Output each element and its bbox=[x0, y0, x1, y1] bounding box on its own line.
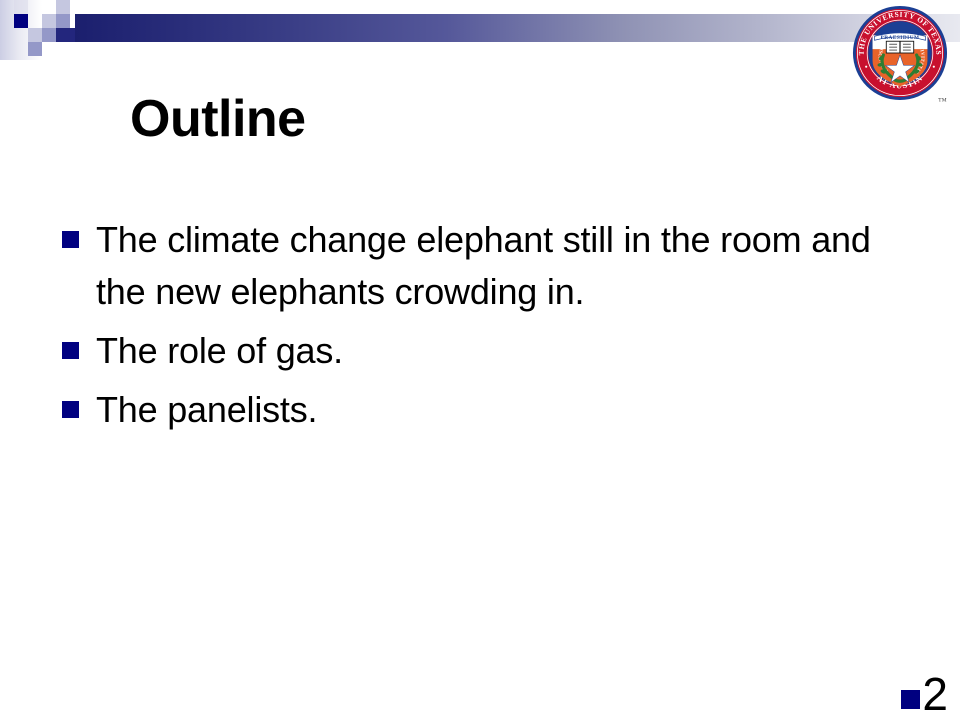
decor-square bbox=[56, 0, 70, 14]
page-title: Outline bbox=[130, 90, 306, 148]
header-decoration bbox=[0, 0, 960, 60]
slide: THE UNIVERSITY OF TEXAS AT AUSTIN PRAESI… bbox=[0, 0, 960, 720]
bullet-square-icon bbox=[62, 342, 79, 359]
decor-square bbox=[14, 0, 28, 14]
header-gradient-bar bbox=[75, 14, 960, 42]
decor-square bbox=[56, 14, 70, 28]
slide-number: 2 bbox=[901, 671, 948, 717]
bullet-square-icon bbox=[901, 690, 920, 709]
list-item-text: The climate change elephant still in the… bbox=[96, 214, 892, 318]
decor-square bbox=[28, 28, 42, 42]
decor-square bbox=[56, 28, 75, 42]
list-item: The climate change elephant still in the… bbox=[62, 214, 892, 318]
bullet-square-icon bbox=[62, 231, 79, 248]
bullet-square-icon bbox=[62, 401, 79, 418]
ut-austin-seal-icon: THE UNIVERSITY OF TEXAS AT AUSTIN PRAESI… bbox=[851, 4, 949, 102]
list-item: The role of gas. bbox=[62, 325, 892, 377]
decor-square bbox=[42, 28, 56, 42]
bullet-list: The climate change elephant still in the… bbox=[62, 214, 892, 443]
decor-square bbox=[28, 42, 42, 56]
decor-square bbox=[42, 14, 56, 28]
svg-text:PRAESIDIUM: PRAESIDIUM bbox=[881, 35, 920, 41]
trademark-symbol: ™ bbox=[938, 96, 947, 106]
decor-square bbox=[14, 14, 28, 28]
list-item-text: The panelists. bbox=[96, 384, 892, 436]
list-item: The panelists. bbox=[62, 384, 892, 436]
list-item-text: The role of gas. bbox=[96, 325, 892, 377]
slide-number-text: 2 bbox=[922, 671, 948, 717]
